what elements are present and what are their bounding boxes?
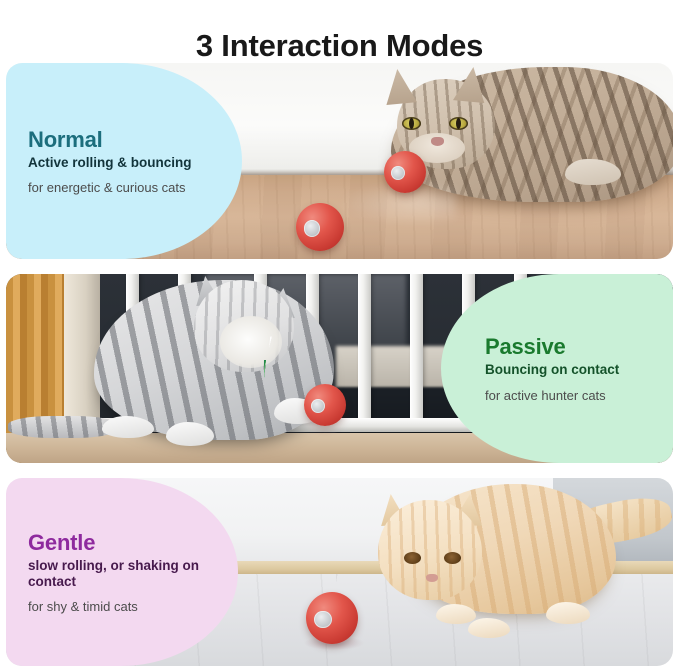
cat-eye-left <box>404 552 421 564</box>
mode-label-gentle: Gentle slow rolling, or shaking on conta… <box>6 478 238 666</box>
mode-label-passive: Passive Bouncing on contact for active h… <box>441 274 673 463</box>
mode-panel-gentle: Gentle slow rolling, or shaking on conta… <box>6 478 673 666</box>
smart-ball <box>306 592 358 644</box>
mode-label-normal: Normal Active rolling & bouncing for ene… <box>6 63 242 259</box>
mode-note-gentle: for shy & timid cats <box>28 599 238 614</box>
mode-panel-normal: Normal Active rolling & bouncing for ene… <box>6 63 673 259</box>
ginger-kitten-head <box>378 500 482 600</box>
cat-paw-front-right <box>166 422 214 446</box>
mode-title-gentle: Gentle <box>28 530 238 556</box>
gate-bar <box>358 274 371 431</box>
cat-paw-rear <box>546 602 590 624</box>
smart-ball-upper <box>384 151 426 193</box>
mode-panel-passive: Passive Bouncing on contact for active h… <box>6 274 673 463</box>
mode-note-passive: for active hunter cats <box>485 388 673 403</box>
mode-title-normal: Normal <box>28 127 242 153</box>
cat-paw <box>565 159 621 185</box>
cat-pupil-right <box>456 118 461 129</box>
gate-bar <box>410 274 423 431</box>
mode-note-normal: for energetic & curious cats <box>28 180 242 195</box>
cat-paw-front-left <box>102 416 154 438</box>
cat-pupil-left <box>409 118 414 129</box>
smart-ball <box>304 384 346 426</box>
mode-subtitle-gentle: slow rolling, or shaking on contact <box>28 558 238 590</box>
mode-title-passive: Passive <box>485 334 673 360</box>
cat-nose <box>431 137 444 146</box>
cat-nose <box>426 574 438 582</box>
smart-ball-lower <box>296 203 344 251</box>
mode-subtitle-normal: Active rolling & bouncing <box>28 155 242 171</box>
cat-eye-right <box>444 552 461 564</box>
mode-subtitle-passive: Bouncing on contact <box>485 362 673 378</box>
cat-paw-front <box>436 604 476 624</box>
cat-paw-mid <box>468 618 510 638</box>
